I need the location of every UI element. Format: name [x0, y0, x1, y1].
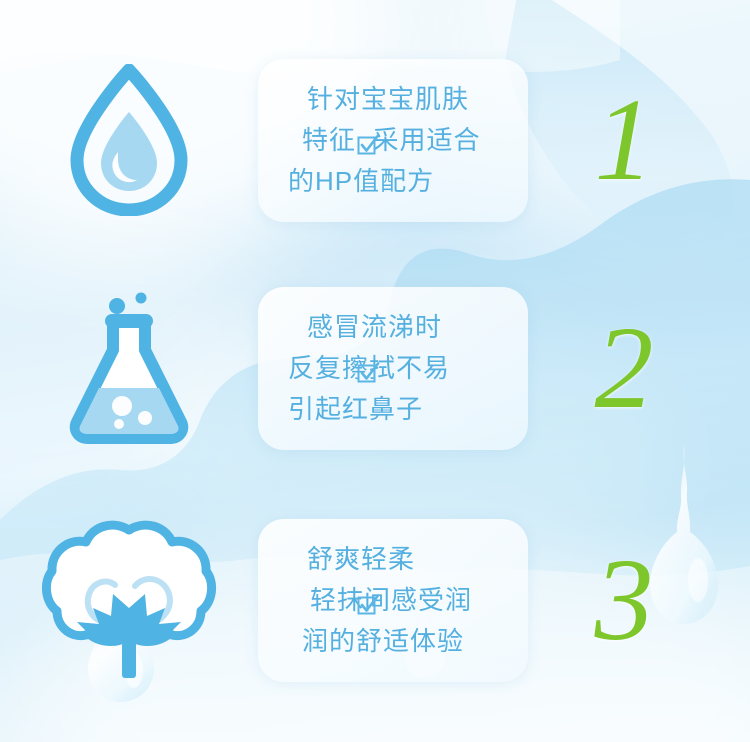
water-drop-icon [63, 64, 195, 216]
feature-line-3-1: 舒爽轻柔 [272, 539, 512, 580]
feature-card-1: 针对宝宝肌肤 特征 采用适合 的HP值配方 [258, 59, 528, 222]
feature-text-2-1: 感冒流涕时 [307, 307, 442, 348]
feature-row-2: 感冒流涕时 反复擦拭不易 引起红鼻子 2 [0, 258, 750, 478]
cotton-boll-icon [41, 516, 217, 684]
lab-flask-icon [61, 288, 197, 448]
feature-text-3-1: 舒爽轻柔 [307, 539, 415, 580]
step-number-slot-3: 3 [554, 541, 694, 659]
step-number-slot-1: 1 [554, 81, 694, 199]
step-number-3: 3 [595, 541, 654, 659]
feature-line-2-1: 感冒流涕时 [272, 307, 512, 348]
feature-icon-slot-3 [0, 500, 258, 700]
feature-text-1-1: 针对宝宝肌肤 [307, 79, 469, 120]
checkbox-checked-icon [274, 315, 298, 339]
step-number-2: 2 [595, 309, 654, 427]
checkbox-checked-icon [274, 547, 298, 571]
feature-icon-slot-2 [0, 268, 258, 468]
step-number-slot-2: 2 [554, 309, 694, 427]
step-number-1: 1 [595, 81, 654, 199]
feature-card-2: 感冒流涕时 反复擦拭不易 引起红鼻子 [258, 287, 528, 450]
feature-row-3: 舒爽轻柔 轻抹间感受润 润的舒适体验 3 [0, 490, 750, 710]
checkbox-checked-icon [274, 87, 298, 111]
feature-row-1: 针对宝宝肌肤 特征 采用适合 的HP值配方 1 [0, 30, 750, 250]
feature-card-3: 舒爽轻柔 轻抹间感受润 润的舒适体验 [258, 519, 528, 682]
poster-canvas: 针对宝宝肌肤 特征 采用适合 的HP值配方 1 [0, 0, 750, 742]
feature-line-1-1: 针对宝宝肌肤 [272, 79, 512, 120]
feature-icon-slot-1 [0, 40, 258, 240]
